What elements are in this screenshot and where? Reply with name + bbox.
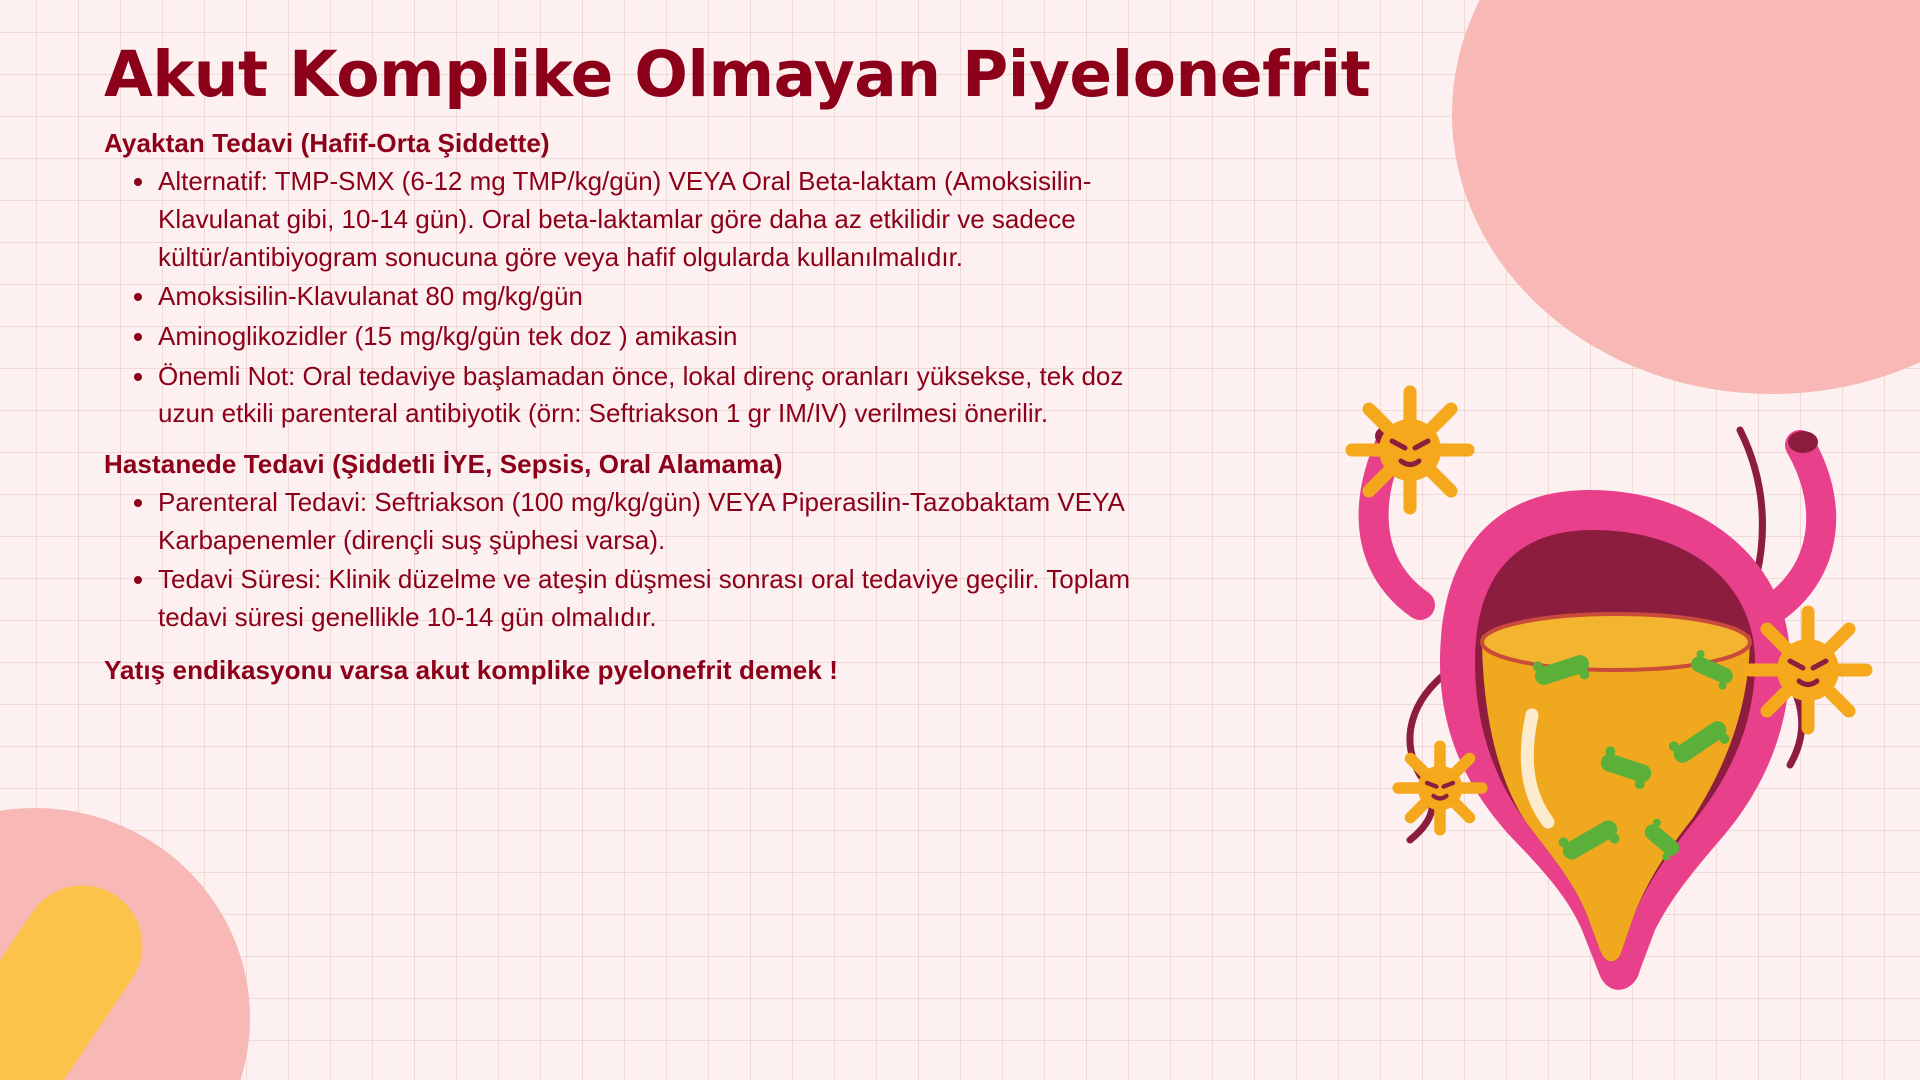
section-heading: Ayaktan Tedavi (Hafif-Orta Şiddette): [104, 128, 1334, 159]
bladder-with-bacteria-illustration: [1300, 370, 1920, 1010]
bullet-list-inpatient: Parenteral Tedavi: Seftriakson (100 mg/k…: [104, 484, 1334, 637]
virus-spiky-orange-bottom: [1398, 746, 1482, 830]
virus-spiky-orange-top: [1352, 392, 1468, 508]
ureter-right: [1768, 445, 1821, 612]
ureter-right-opening: [1788, 431, 1818, 453]
list-item: Parenteral Tedavi: Seftriakson (100 mg/k…: [104, 484, 1158, 559]
section-heading: Hastanede Tedavi (Şiddetli İYE, Sepsis, …: [104, 449, 1334, 480]
list-item: Aminoglikozidler (15 mg/kg/gün tek doz )…: [104, 318, 1158, 356]
bullet-list-outpatient: Alternatif: TMP-SMX (6-12 mg TMP/kg/gün)…: [104, 163, 1334, 433]
closing-note: Yatış endikasyonu varsa akut komplike py…: [104, 655, 1334, 686]
slide-canvas: Akut Komplike Olmayan Piyelonefrit Ayakt…: [0, 0, 1920, 1080]
section-outpatient: Ayaktan Tedavi (Hafif-Orta Şiddette) Alt…: [104, 128, 1334, 433]
list-item: Önemli Not: Oral tedaviye başlamadan önc…: [104, 358, 1158, 433]
section-inpatient: Hastanede Tedavi (Şiddetli İYE, Sepsis, …: [104, 449, 1334, 637]
list-item: Tedavi Süresi: Klinik düzelme ve ateşin …: [104, 561, 1158, 636]
list-item: Alternatif: TMP-SMX (6-12 mg TMP/kg/gün)…: [104, 163, 1158, 276]
page-title: Akut Komplike Olmayan Piyelonefrit: [104, 42, 1334, 108]
virus-spiky-orange-right: [1750, 612, 1866, 728]
slide-content: Akut Komplike Olmayan Piyelonefrit Ayakt…: [104, 42, 1334, 686]
list-item: Amoksisilin-Klavulanat 80 mg/kg/gün: [104, 278, 1158, 316]
